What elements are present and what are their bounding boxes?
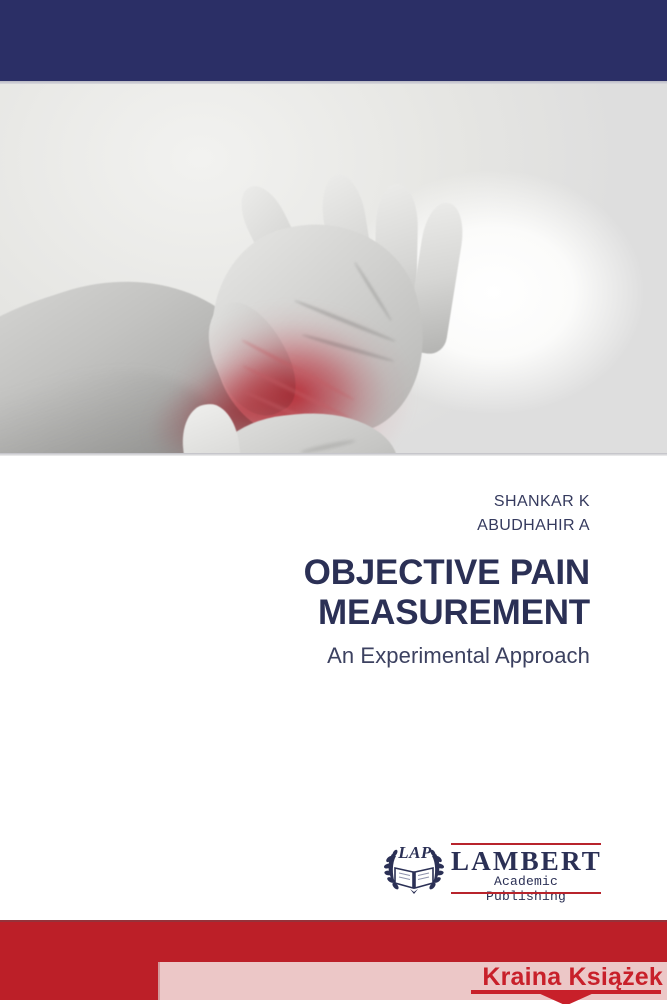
photo-bottom-edge [0,453,667,456]
logo-rule-bottom [451,892,601,894]
publisher-logo: LAP LAMBERT Academic Publishing [383,841,601,899]
book-subtitle: An Experimental Approach [327,643,590,669]
lap-emblem-label: LAP [391,843,439,863]
publisher-wordmark: LAMBERT Academic Publishing [451,841,601,899]
book-title-line-1: OBJECTIVE PAIN [70,553,590,593]
watermark-label: Kraina Książek [482,963,663,992]
book-title: OBJECTIVE PAIN MEASUREMENT [70,553,590,633]
book-title-line-2: MEASUREMENT [70,593,590,633]
publisher-name: LAMBERT [451,847,601,875]
logo-rule-top [451,843,601,845]
author-name-1: SHANKAR K [477,490,590,514]
cover-photo [0,84,667,456]
author-list: SHANKAR K ABUDHAHIR A [477,490,590,538]
publisher-tagline: Academic Publishing [451,874,601,904]
top-navy-band [0,0,667,81]
author-name-2: ABUDHAHIR A [477,514,590,538]
